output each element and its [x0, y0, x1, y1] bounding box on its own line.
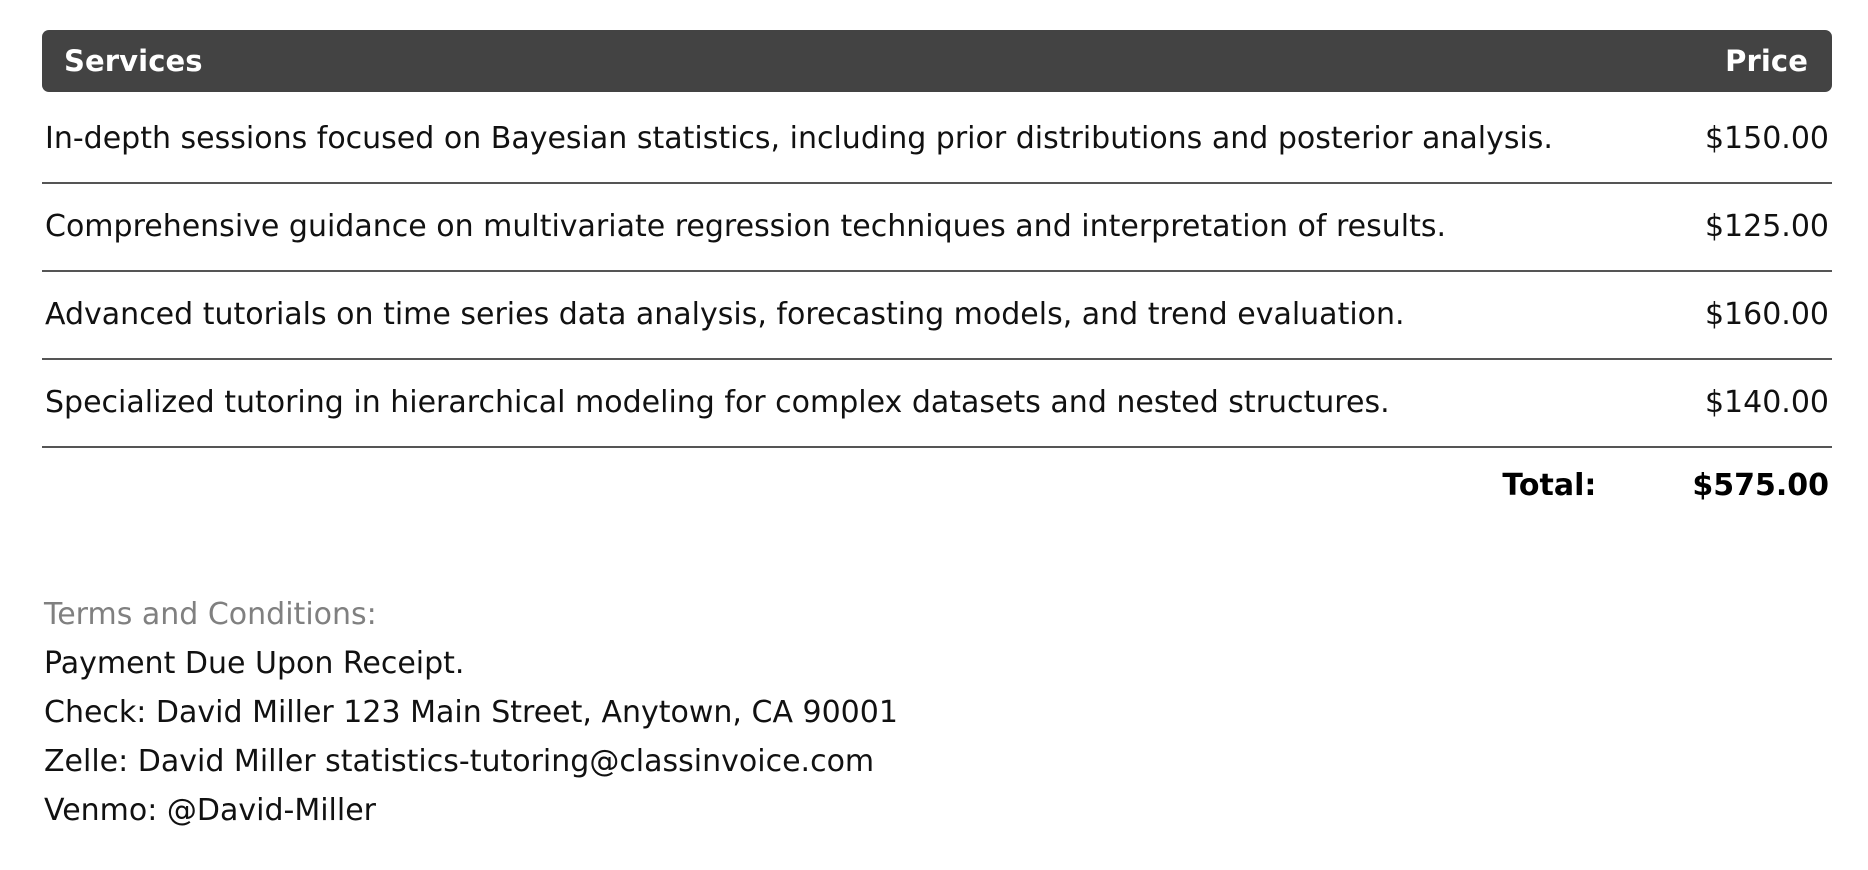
table-row: Advanced tutorials on time series data a… — [42, 272, 1832, 360]
service-price: $160.00 — [1705, 297, 1832, 333]
terms-and-conditions: Terms and Conditions: Payment Due Upon R… — [44, 600, 1744, 826]
terms-line-zelle: Zelle: David Miller statistics-tutoring@… — [44, 747, 1744, 777]
total-label: Total: — [1502, 468, 1596, 503]
table-row: In-depth sessions focused on Bayesian st… — [42, 96, 1832, 184]
service-description: In-depth sessions focused on Bayesian st… — [42, 119, 1573, 159]
invoice-services-section: Services Price In-depth sessions focused… — [0, 0, 1868, 870]
terms-line-check: Check: David Miller 123 Main Street, Any… — [44, 698, 1744, 728]
service-description: Comprehensive guidance on multivariate r… — [42, 207, 1466, 247]
services-table-header: Services Price — [42, 30, 1832, 92]
terms-line-payment-due: Payment Due Upon Receipt. — [44, 649, 1744, 679]
service-description: Advanced tutorials on time series data a… — [42, 295, 1425, 335]
terms-line-venmo: Venmo: @David-Miller — [44, 796, 1744, 826]
service-price: $150.00 — [1705, 121, 1832, 157]
total-value: $575.00 — [1692, 468, 1832, 503]
service-description: Specialized tutoring in hierarchical mod… — [42, 383, 1410, 423]
table-row: Specialized tutoring in hierarchical mod… — [42, 360, 1832, 448]
table-row: Comprehensive guidance on multivariate r… — [42, 184, 1832, 272]
services-table-body: In-depth sessions focused on Bayesian st… — [42, 96, 1832, 522]
column-header-price: Price — [1725, 47, 1808, 76]
total-row: Total: $575.00 — [42, 448, 1832, 522]
service-price: $140.00 — [1705, 385, 1832, 421]
column-header-services: Services — [64, 47, 203, 76]
terms-heading: Terms and Conditions: — [44, 600, 1744, 630]
service-price: $125.00 — [1705, 209, 1832, 245]
